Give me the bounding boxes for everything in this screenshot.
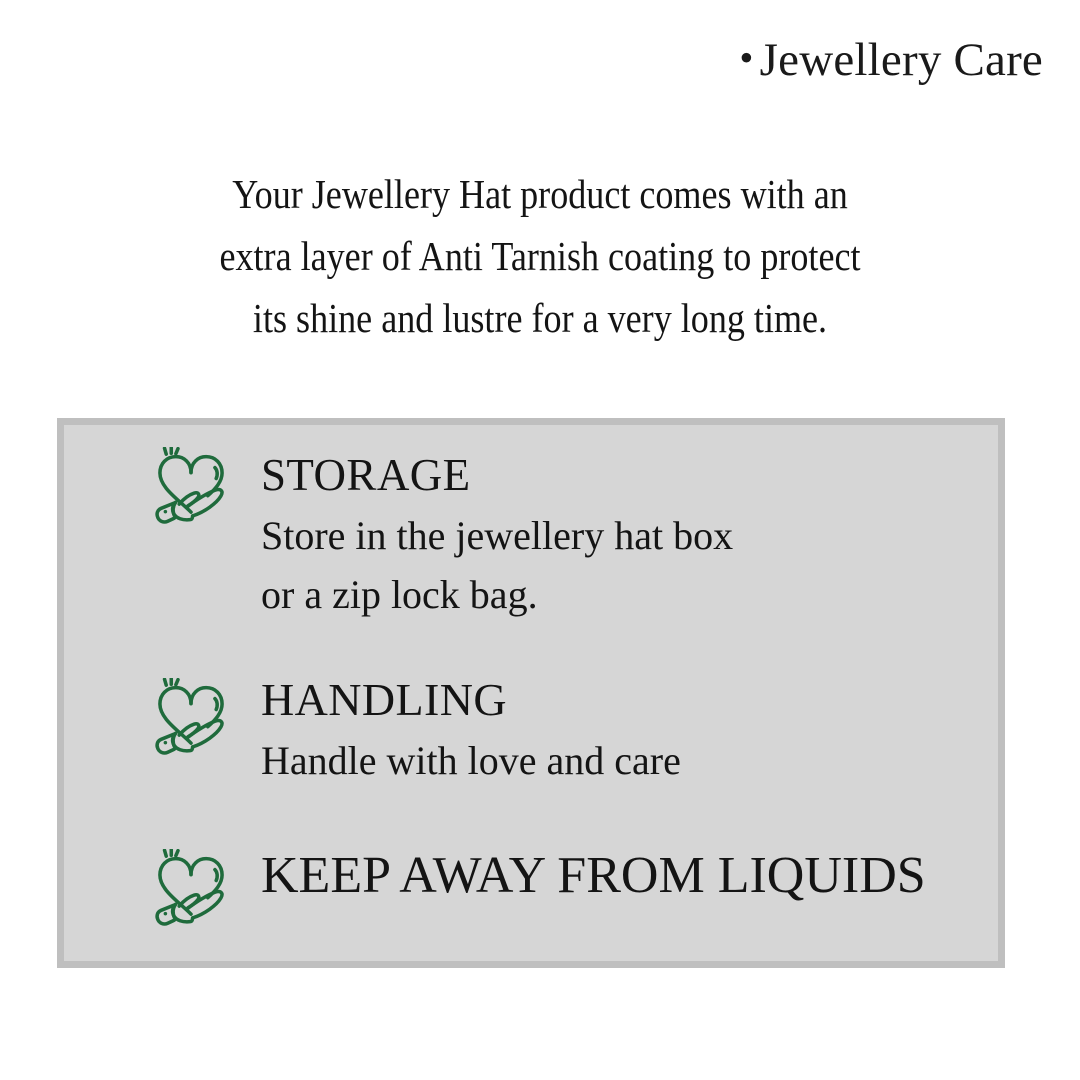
heart-in-hand-icon — [149, 849, 233, 933]
page-title-text: Jewellery Care — [760, 34, 1043, 86]
bullet-icon: • — [739, 35, 759, 80]
care-rows: STORAGE Store in the jewellery hat box o… — [149, 447, 986, 961]
care-row-text: HANDLING Handle with love and care — [261, 672, 986, 790]
page-title: •Jewellery Care — [0, 33, 1043, 87]
care-row-handling: HANDLING Handle with love and care — [149, 672, 986, 790]
care-heading-storage: STORAGE — [261, 450, 471, 500]
care-body-line-1: Store in the jewellery hat box — [261, 506, 986, 565]
care-body-line-1: Handle with love and care — [261, 731, 986, 790]
care-row-text: KEEP AWAY FROM LIQUIDS — [261, 847, 986, 905]
heart-in-hand-icon — [149, 678, 233, 762]
intro-line-2: extra layer of Anti Tarnish coating to p… — [118, 225, 963, 287]
care-heading-handling: HANDLING — [261, 674, 507, 725]
care-row-storage: STORAGE Store in the jewellery hat box o… — [149, 447, 986, 624]
heart-in-hand-icon — [149, 447, 233, 531]
intro-line-1: Your Jewellery Hat product comes with an — [118, 163, 963, 225]
intro-paragraph: Your Jewellery Hat product comes with an… — [118, 163, 963, 349]
intro-line-3: its shine and lustre for a very long tim… — [118, 287, 963, 349]
care-row-text: STORAGE Store in the jewellery hat box o… — [261, 447, 986, 624]
care-heading-keep-away-from-liquids: KEEP AWAY FROM LIQUIDS — [261, 847, 926, 904]
care-instructions-panel: STORAGE Store in the jewellery hat box o… — [57, 418, 1005, 968]
care-row-keep-away-from-liquids: KEEP AWAY FROM LIQUIDS — [149, 847, 986, 933]
care-body-line-2: or a zip lock bag. — [261, 565, 986, 624]
care-body-storage: Store in the jewellery hat box or a zip … — [261, 506, 986, 624]
care-body-handling: Handle with love and care — [261, 731, 986, 790]
